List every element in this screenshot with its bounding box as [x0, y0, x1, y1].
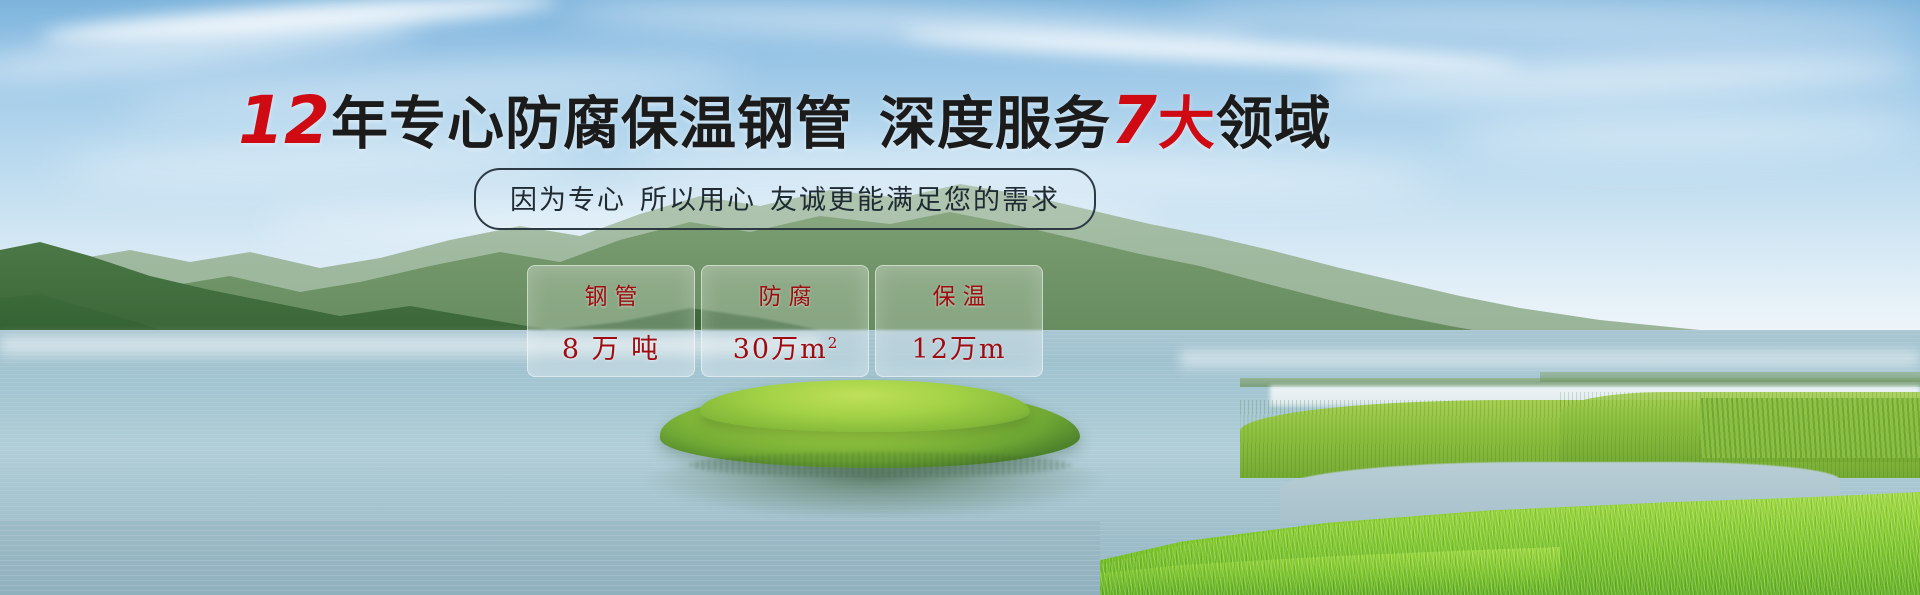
- headline-red-char: 大: [1158, 91, 1216, 157]
- hero-banner: 12年专心防腐保温钢管深度服务7大领域 因为专心所以用心友诚更能满足您的需求 钢…: [0, 0, 1920, 595]
- stat-value-main: 8 万 吨: [562, 334, 660, 365]
- stat-card-value: 30万m2: [733, 327, 838, 366]
- headline-part-3: 领域: [1216, 91, 1332, 157]
- stat-value-main: 30万m: [733, 334, 828, 365]
- banner-headline: 12年专心防腐保温钢管深度服务7大领域: [0, 88, 1570, 154]
- headline-number-7: 7: [1111, 82, 1158, 159]
- banner-subtitle-pill: 因为专心所以用心友诚更能满足您的需求: [0, 168, 1570, 230]
- subtitle-segment-3: 友诚更能满足您的需求: [770, 185, 1060, 216]
- stat-value-superscript: 2: [828, 334, 838, 352]
- stat-card-value: 8 万 吨: [562, 327, 660, 366]
- reed-edge: [1700, 398, 1920, 458]
- stat-value-main: 12万m: [912, 334, 1007, 365]
- stat-card-insulation[interactable]: 保温 12万m: [875, 265, 1043, 377]
- stat-card-steel-pipe[interactable]: 钢管 8 万 吨: [527, 265, 695, 377]
- stat-card-label: 保温: [926, 277, 993, 311]
- near-water-ripples: [0, 520, 1100, 595]
- headline-part-1: 年专心防腐保温钢管: [331, 91, 853, 157]
- subtitle-text-container: 因为专心所以用心友诚更能满足您的需求: [474, 168, 1096, 230]
- island-water-fringe: [690, 452, 1070, 478]
- headline-number-12: 12: [238, 82, 331, 159]
- stat-cards-row: 钢管 8 万 吨 防腐 30万m2 保温 12万m: [0, 265, 1570, 377]
- stat-card-value: 12万m: [912, 327, 1007, 366]
- subtitle-segment-1: 因为专心: [510, 185, 626, 216]
- stat-card-label: 防腐: [752, 277, 819, 311]
- stat-card-anticorrosion[interactable]: 防腐 30万m2: [701, 265, 869, 377]
- headline-part-2: 深度服务: [879, 91, 1111, 157]
- stat-card-label: 钢管: [578, 277, 645, 311]
- far-shoreline: [1540, 372, 1920, 382]
- subtitle-segment-2: 所以用心: [640, 185, 756, 216]
